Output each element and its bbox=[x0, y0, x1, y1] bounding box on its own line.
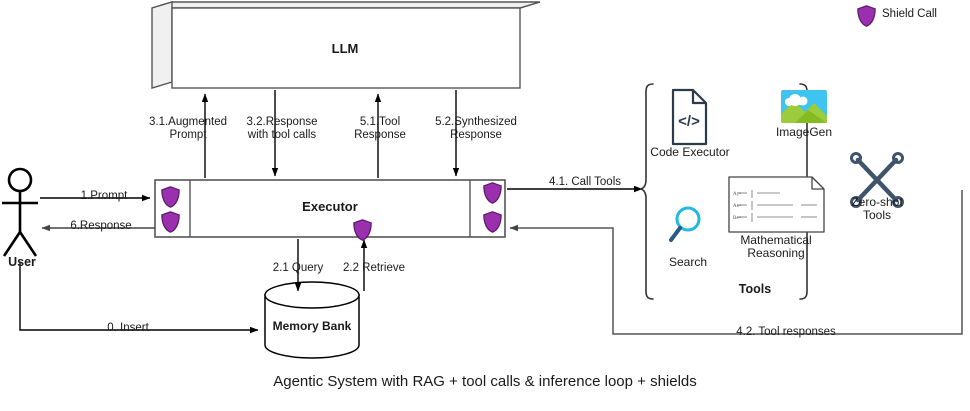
tool-label-search: Search bbox=[655, 256, 721, 269]
edge-label-42-tool-responses: 4.2. Tool responses bbox=[666, 326, 906, 339]
svg-text:A₀=: A₀= bbox=[733, 192, 741, 197]
edge-label-51-tool-response: 5.1.Tool Response bbox=[334, 116, 426, 142]
edge-label-0-insert: 0. Insert bbox=[78, 322, 178, 335]
user-label: User bbox=[0, 256, 44, 269]
edge-label-1-prompt: 1.Prompt bbox=[56, 190, 152, 203]
memory-bank-label: Memory Bank bbox=[262, 320, 362, 333]
edge-label-6-response: 6.Response bbox=[50, 220, 152, 233]
edge-label-22-retrieve: 2.2 Retrieve bbox=[330, 262, 418, 275]
diagram-svg: </> bbox=[0, 0, 970, 411]
svg-text:</>: </> bbox=[678, 113, 700, 130]
edge-label-21-query: 2.1 Query bbox=[258, 262, 338, 275]
svg-text:Bₙ=: Bₙ= bbox=[733, 216, 741, 221]
formula-document-icon: A₀=Aₙ=Bₙ= bbox=[729, 177, 824, 232]
magnifier-icon bbox=[671, 208, 699, 240]
edge-0-insert bbox=[20, 262, 258, 330]
code-document-icon: </> bbox=[673, 90, 706, 144]
svg-text:Aₙ=: Aₙ= bbox=[733, 204, 742, 209]
user-node bbox=[2, 169, 38, 256]
edge-label-41-call-tools: 4.1. Call Tools bbox=[530, 176, 640, 189]
shield-icon-legend bbox=[858, 6, 875, 26]
edge-label-52-synthesized-response: 5.2.Synthesized Response bbox=[424, 116, 528, 142]
tool-label-code-executor: Code Executor bbox=[645, 146, 735, 159]
edge-label-32-response-tool-calls: 3.2.Response with tool calls bbox=[229, 116, 335, 142]
diagram-caption: Agentic System with RAG + tool calls & i… bbox=[185, 375, 785, 388]
llm-label: LLM bbox=[290, 42, 400, 55]
edge-label-31-augmented-prompt: 3.1.Augmented Prompt bbox=[138, 116, 238, 142]
tool-label-math: Mathematical Reasoning bbox=[728, 234, 824, 260]
image-photo-icon bbox=[781, 90, 827, 123]
tool-label-imagegen: ImageGen bbox=[764, 126, 844, 139]
tool-label-zero-shot: Zero-shot Tools bbox=[838, 196, 916, 222]
diagram-canvas: </> bbox=[0, 0, 970, 411]
legend-label: Shield Call bbox=[882, 8, 970, 21]
executor-label: Executor bbox=[275, 200, 385, 213]
tools-group-label: Tools bbox=[705, 283, 805, 296]
